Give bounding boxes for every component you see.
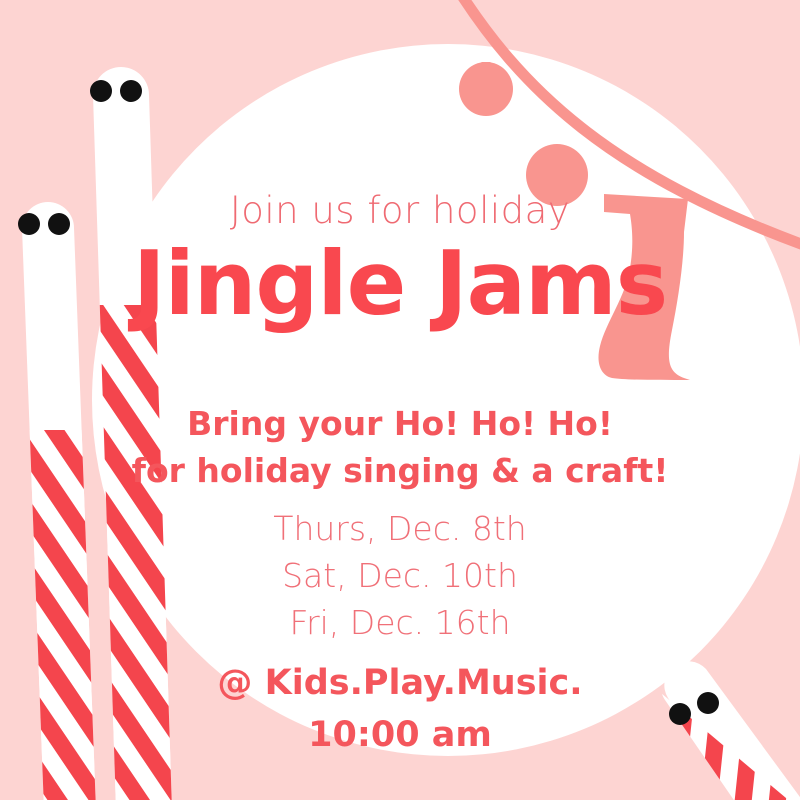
- tagline-line-2: for holiday singing & a craft!: [0, 447, 800, 494]
- tagline-line-1: Bring your Ho! Ho! Ho!: [0, 400, 800, 447]
- event-date: Thurs, Dec. 8th: [0, 505, 800, 552]
- holiday-invitation-poster: Join us for holiday Jingle Jams Bring yo…: [0, 0, 800, 800]
- event-dates-list: Thurs, Dec. 8th Sat, Dec. 10th Fri, Dec.…: [0, 505, 800, 646]
- event-date: Fri, Dec. 16th: [0, 599, 800, 646]
- subtitle: Join us for holiday: [0, 189, 800, 232]
- venue-and-time: @ Kids.Play.Music. 10:00 am: [0, 657, 800, 761]
- social-handle: @ Kids.Play.Music.: [0, 657, 800, 709]
- tagline: Bring your Ho! Ho! Ho! for holiday singi…: [0, 400, 800, 494]
- page-title: Jingle Jams: [0, 232, 800, 335]
- event-date: Sat, Dec. 10th: [0, 552, 800, 599]
- event-time: 10:00 am: [0, 709, 800, 761]
- poster-text-content: Join us for holiday Jingle Jams Bring yo…: [0, 0, 800, 800]
